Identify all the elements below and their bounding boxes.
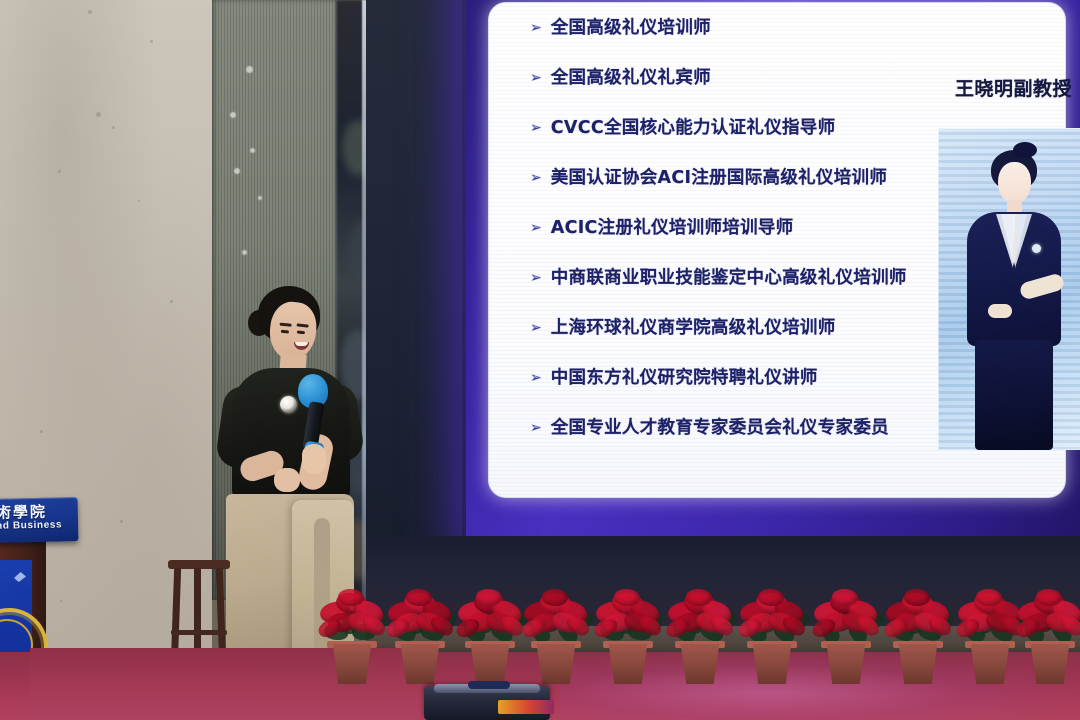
panel-fleck	[250, 148, 255, 153]
arrow-bullet-icon: ➢	[530, 220, 542, 234]
speaker-eyebrow-right	[297, 323, 309, 327]
flower-pot	[895, 644, 941, 684]
flower-pot	[823, 644, 869, 684]
presenter-name-caption: 王晓明副教授	[955, 74, 1072, 101]
flower-bract	[758, 589, 784, 606]
wall-speck	[120, 520, 123, 523]
flower-bract	[832, 589, 858, 606]
list-item: ➢ 全国专业人才教育专家委员会礼仪专家委员	[530, 414, 960, 464]
arrow-bullet-icon: ➢	[530, 270, 542, 284]
flower-pot	[749, 644, 795, 684]
list-item	[594, 574, 662, 684]
list-item-label: 中商联商业职业技能鉴定中心高级礼仪培训师	[551, 264, 907, 289]
slide-bullet-list: ➢ 全国高级礼仪培训师 ➢ 全国高级礼仪礼宾师 ➢ CVCC全国核心能力认证礼仪…	[530, 14, 960, 464]
wall-speck	[40, 430, 43, 433]
flower-bract	[614, 589, 640, 606]
portrait-face	[998, 162, 1031, 204]
wall-speck	[170, 300, 173, 303]
flower-pot	[397, 644, 443, 684]
flower-pot	[533, 644, 579, 684]
flower-pot	[329, 644, 375, 684]
panel-fleck	[246, 66, 253, 73]
speaker-hand-left	[274, 468, 300, 492]
portrait-lapel-right	[1015, 214, 1032, 268]
list-item-label: 上海环球礼仪商学院高级礼仪培训师	[551, 314, 836, 339]
sign-english-text: nd Business	[0, 519, 62, 531]
presenter-portrait-photo	[938, 128, 1080, 450]
list-item-label: 美国认证协会ACI注册国际高级礼仪培训师	[551, 164, 887, 189]
arrow-bullet-icon: ➢	[530, 320, 542, 334]
list-item	[318, 574, 386, 684]
list-item	[522, 574, 590, 684]
slide-card: ➢ 全国高级礼仪培训师 ➢ 全国高级礼仪礼宾师 ➢ CVCC全国核心能力认证礼仪…	[488, 2, 1066, 498]
arrow-bullet-icon: ➢	[530, 370, 542, 384]
speaker-eye-right	[297, 330, 305, 334]
list-item	[666, 574, 734, 684]
list-item: ➢ 全国高级礼仪礼宾师	[530, 64, 960, 114]
list-item-label: ACIC注册礼仪培训师培训导师	[551, 214, 794, 239]
portrait-hand	[988, 304, 1012, 318]
list-item-label: 全国专业人才教育专家委员会礼仪专家委员	[551, 414, 889, 439]
chair-rung	[171, 630, 227, 635]
list-item	[956, 574, 1024, 684]
portrait-skirt	[975, 340, 1053, 450]
arrow-bullet-icon: ➢	[530, 420, 542, 434]
panel-fleck	[242, 250, 247, 255]
panel-fleck	[234, 168, 240, 174]
portrait-lapel-left	[996, 214, 1013, 268]
list-item	[1016, 574, 1080, 684]
list-item-label: 全国高级礼仪培训师	[551, 14, 711, 39]
list-item: ➢ ACIC注册礼仪培训师培训导师	[530, 214, 960, 264]
wall-speck	[60, 600, 62, 602]
stage-photo-scene: ➢ 全国高级礼仪培训师 ➢ 全国高级礼仪礼宾师 ➢ CVCC全国核心能力认证礼仪…	[0, 0, 1080, 720]
speaker-brooch	[280, 396, 297, 413]
flower-bract	[976, 589, 1002, 606]
arrow-bullet-icon: ➢	[530, 70, 542, 84]
list-item: ➢ 美国认证协会ACI注册国际高级礼仪培训师	[530, 164, 960, 214]
projection-screen: ➢ 全国高级礼仪培训师 ➢ 全国高级礼仪礼宾师 ➢ CVCC全国核心能力认证礼仪…	[466, 0, 1080, 542]
list-item-label: CVCC全国核心能力认证礼仪指导师	[551, 114, 836, 139]
list-item: ➢ 中国东方礼仪研究院特聘礼仪讲师	[530, 364, 960, 414]
flower-bract	[406, 589, 432, 606]
flower-bract	[476, 589, 502, 606]
flower-bract	[686, 589, 712, 606]
flower-pot	[967, 644, 1013, 684]
flower-bract	[904, 589, 930, 606]
flower-bract	[542, 589, 568, 606]
equipment-case-label	[498, 700, 554, 714]
flower-pot	[605, 644, 651, 684]
wall-speck	[138, 200, 140, 202]
list-item	[738, 574, 806, 684]
speaker-eye-left	[281, 330, 289, 334]
speaker-teeth	[295, 342, 308, 346]
list-item: ➢ 全国高级礼仪培训师	[530, 14, 960, 64]
speaker-hand-right	[302, 444, 326, 474]
flower-bract	[338, 589, 364, 606]
list-item	[812, 574, 880, 684]
flower-bract	[1036, 589, 1062, 606]
flower-pot	[1027, 644, 1073, 684]
arrow-bullet-icon: ➢	[530, 20, 542, 34]
list-item-label: 中国东方礼仪研究院特聘礼仪讲师	[551, 364, 818, 389]
panel-fleck	[258, 196, 262, 200]
list-item: ➢ 中商联商业职业技能鉴定中心高级礼仪培训师	[530, 264, 960, 314]
flower-pot	[467, 644, 513, 684]
portrait-hair-bun	[1013, 142, 1037, 158]
wall-speck	[150, 40, 153, 43]
wall-speck	[58, 170, 61, 173]
wall-speck	[96, 112, 101, 117]
list-item	[456, 574, 524, 684]
portrait-lapel-pin	[1032, 244, 1041, 253]
arrow-bullet-icon: ➢	[530, 120, 542, 134]
institution-sign: 術學院 nd Business	[0, 497, 78, 543]
list-item: ➢ CVCC全国核心能力认证礼仪指导师	[530, 114, 960, 164]
list-item-label: 全国高级礼仪礼宾师	[551, 64, 711, 89]
flower-pot	[677, 644, 723, 684]
arrow-bullet-icon: ➢	[530, 170, 542, 184]
wall-speck	[88, 10, 92, 14]
speaker-eyebrow-left	[280, 323, 292, 327]
list-item	[884, 574, 952, 684]
wall-speck	[112, 126, 115, 129]
list-item: ➢ 上海环球礼仪商学院高级礼仪培训师	[530, 314, 960, 364]
equipment-case-handle	[468, 681, 510, 689]
list-item	[386, 574, 454, 684]
panel-fleck	[230, 112, 236, 118]
